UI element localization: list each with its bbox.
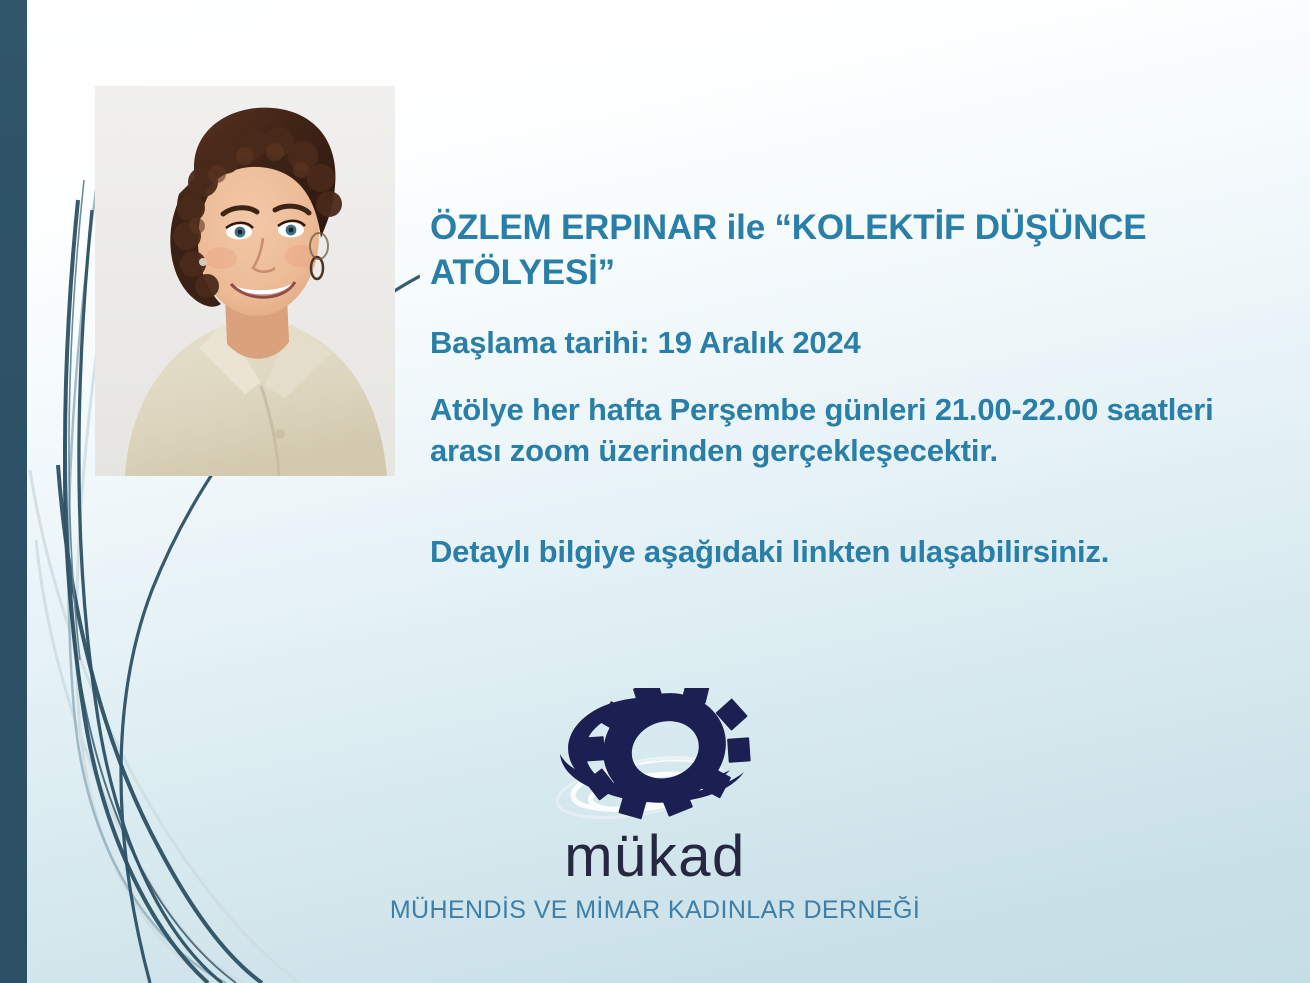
slide-text-content: ÖZLEM ERPINAR ile “KOLEKTİF DÜŞÜNCE ATÖL… [430, 206, 1290, 572]
speaker-portrait-photo [95, 86, 395, 476]
page-title: ÖZLEM ERPINAR ile “KOLEKTİF DÜŞÜNCE ATÖL… [430, 206, 1290, 296]
mukad-wordmark: mükad [0, 828, 1310, 886]
presentation-slide: ÖZLEM ERPINAR ile “KOLEKTİF DÜŞÜNCE ATÖL… [0, 0, 1310, 983]
mukad-gear-logo-icon [540, 688, 770, 820]
start-date-text: Başlama tarihi: 19 Aralık 2024 [430, 322, 1290, 363]
link-note-text: Detaylı bilgiye aşağıdaki linkten ulaşab… [430, 531, 1290, 572]
portrait-image [95, 86, 395, 476]
schedule-text: Atölye her hafta Perşembe günleri 21.00-… [430, 389, 1290, 471]
mukad-tagline: MÜHENDİS VE MİMAR KADINLAR DERNEĞİ [0, 898, 1310, 923]
text-spacer [430, 471, 1290, 531]
mukad-logo-block: mükad MÜHENDİS VE MİMAR KADINLAR DERNEĞİ [0, 688, 1310, 923]
